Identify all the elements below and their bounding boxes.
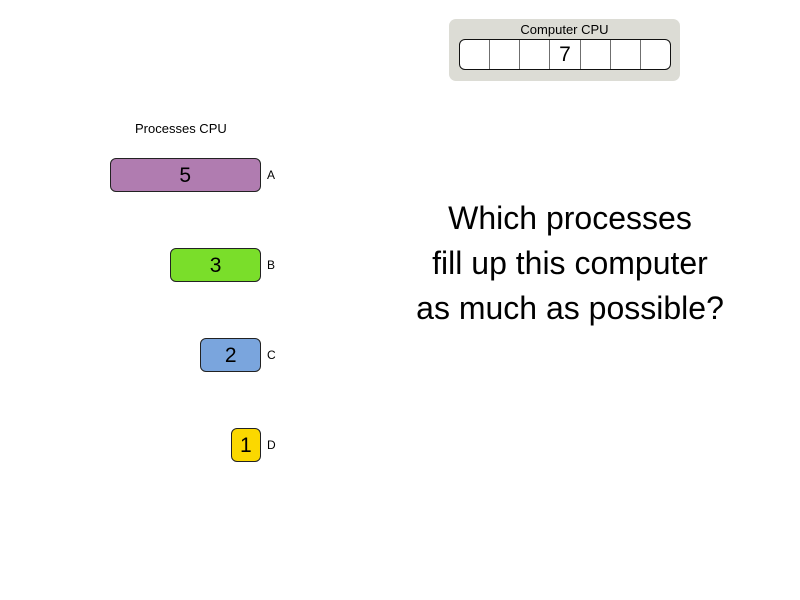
cpu-cell bbox=[611, 40, 641, 69]
process-bar-b[interactable]: 3 bbox=[170, 248, 261, 282]
computer-cpu-title: Computer CPU bbox=[449, 22, 680, 38]
question-line-2: fill up this computer bbox=[380, 241, 760, 286]
process-label-b: B bbox=[267, 258, 275, 272]
cpu-capacity-label-cell: 7 bbox=[550, 40, 580, 69]
process-label-c: C bbox=[267, 348, 276, 362]
cpu-cell bbox=[520, 40, 550, 69]
process-bar-row[interactable]: 1D bbox=[231, 428, 276, 462]
process-bar-c[interactable]: 2 bbox=[200, 338, 261, 372]
process-label-d: D bbox=[267, 438, 276, 452]
process-bar-d[interactable]: 1 bbox=[231, 428, 261, 462]
cpu-cell bbox=[641, 40, 670, 69]
process-bar-row[interactable]: 5A bbox=[110, 158, 276, 192]
cpu-cell bbox=[490, 40, 520, 69]
process-bar-a[interactable]: 5 bbox=[110, 158, 262, 192]
question-line-1: Which processes bbox=[380, 196, 760, 241]
computer-cpu-track: 7 bbox=[459, 39, 671, 70]
cpu-cell bbox=[581, 40, 611, 69]
slide-canvas: Computer CPU 7 Processes CPU 5A3B2C1D Wh… bbox=[0, 0, 800, 600]
computer-cpu-panel: Computer CPU 7 bbox=[449, 19, 680, 81]
question-text: Which processes fill up this computer as… bbox=[380, 196, 760, 331]
processes-cpu-title: Processes CPU bbox=[135, 121, 227, 137]
cpu-cell bbox=[460, 40, 490, 69]
process-label-a: A bbox=[267, 168, 275, 182]
question-line-3: as much as possible? bbox=[380, 286, 760, 331]
process-bar-row[interactable]: 3B bbox=[170, 248, 275, 282]
process-bar-row[interactable]: 2C bbox=[200, 338, 275, 372]
